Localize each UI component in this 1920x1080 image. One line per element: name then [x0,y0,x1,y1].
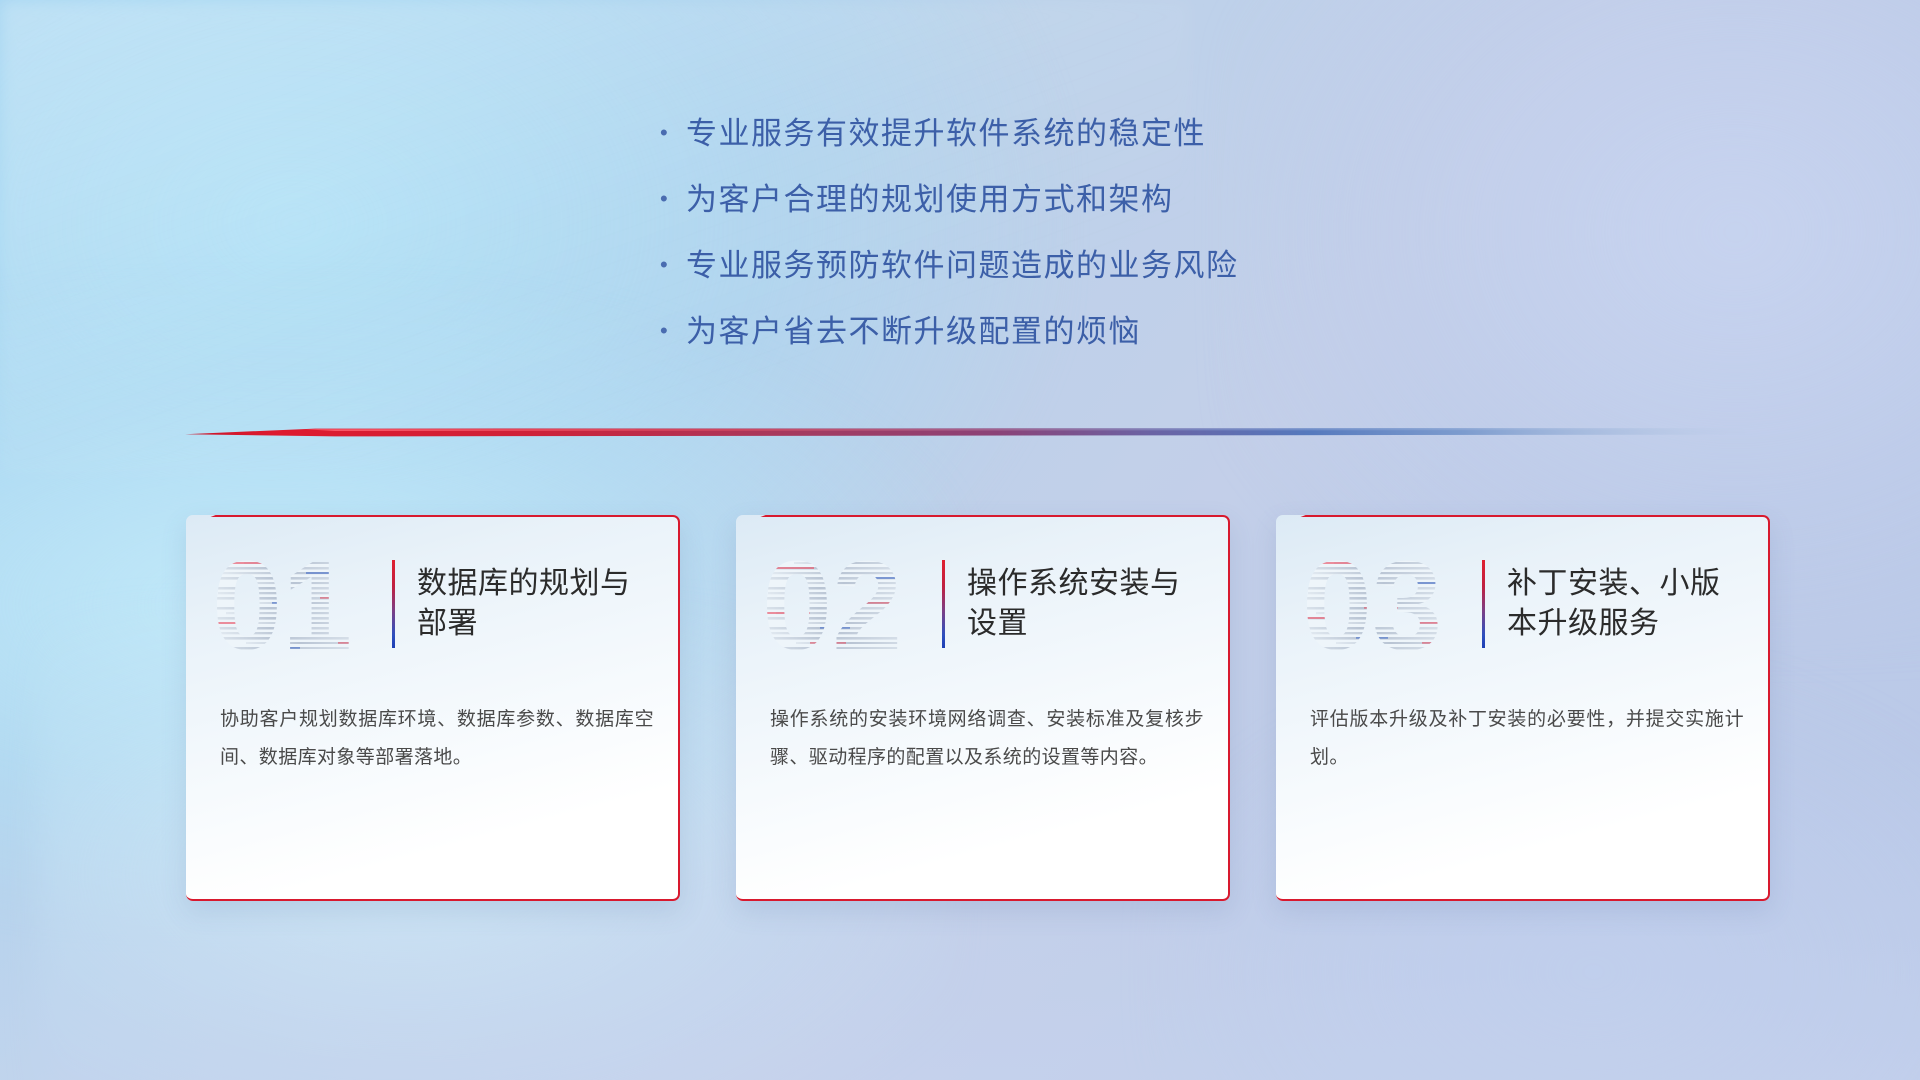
service-card[interactable]: 02 [736,515,1230,901]
sliced-number-icon: 03 [1300,545,1480,663]
bullet-dot-icon: • [660,188,686,210]
sliced-number-icon: 02 [760,545,940,663]
card-body-text: 操作系统的安装环境网络调查、安装标准及复核步骤、驱动程序的配置以及系统的设置等内… [770,701,1204,777]
bullet-text: 为客户合理的规划使用方式和架构 [686,174,1174,219]
bullet-text: 为客户省去不断升级配置的烦恼 [686,306,1141,351]
card-number-glitch: 01 [210,545,390,663]
card-number-glitch: 02 [760,545,940,663]
service-card-row: 01 [0,515,1920,915]
card-title-divider [942,560,945,648]
card-title: 操作系统安装与设置 [967,564,1182,643]
card-title-divider [1482,560,1485,648]
list-item: • 专业服务预防软件问题造成的业务风险 [660,240,1560,306]
card-title: 补丁安装、小版本升级服务 [1507,564,1722,643]
card-title: 数据库的规划与部署 [417,564,632,643]
benefits-bullet-list: • 专业服务有效提升软件系统的稳定性 • 为客户合理的规划使用方式和架构 • 专… [660,108,1560,372]
bullet-dot-icon: • [660,320,686,342]
card-number-glitch: 03 [1300,545,1480,663]
list-item: • 专业服务有效提升软件系统的稳定性 [660,108,1560,174]
bullet-text: 专业服务预防软件问题造成的业务风险 [686,240,1239,285]
service-card[interactable]: 01 [186,515,680,901]
card-header: 03 [1276,539,1770,669]
bullet-dot-icon: • [660,254,686,276]
bullet-text: 专业服务有效提升软件系统的稳定性 [686,108,1206,153]
service-card[interactable]: 03 [1276,515,1770,901]
divider-tapered-line-icon [185,424,1745,442]
card-header: 02 [736,539,1230,669]
card-header: 01 [186,539,680,669]
list-item: • 为客户省去不断升级配置的烦恼 [660,306,1560,372]
card-body-text: 协助客户规划数据库环境、数据库参数、数据库空间、数据库对象等部署落地。 [220,701,654,777]
card-body-text: 评估版本升级及补丁安装的必要性，并提交实施计划。 [1310,701,1744,777]
bullet-dot-icon: • [660,122,686,144]
list-item: • 为客户合理的规划使用方式和架构 [660,174,1560,240]
section-divider [185,424,1745,442]
card-title-divider [392,560,395,648]
sliced-number-icon: 01 [210,545,390,663]
